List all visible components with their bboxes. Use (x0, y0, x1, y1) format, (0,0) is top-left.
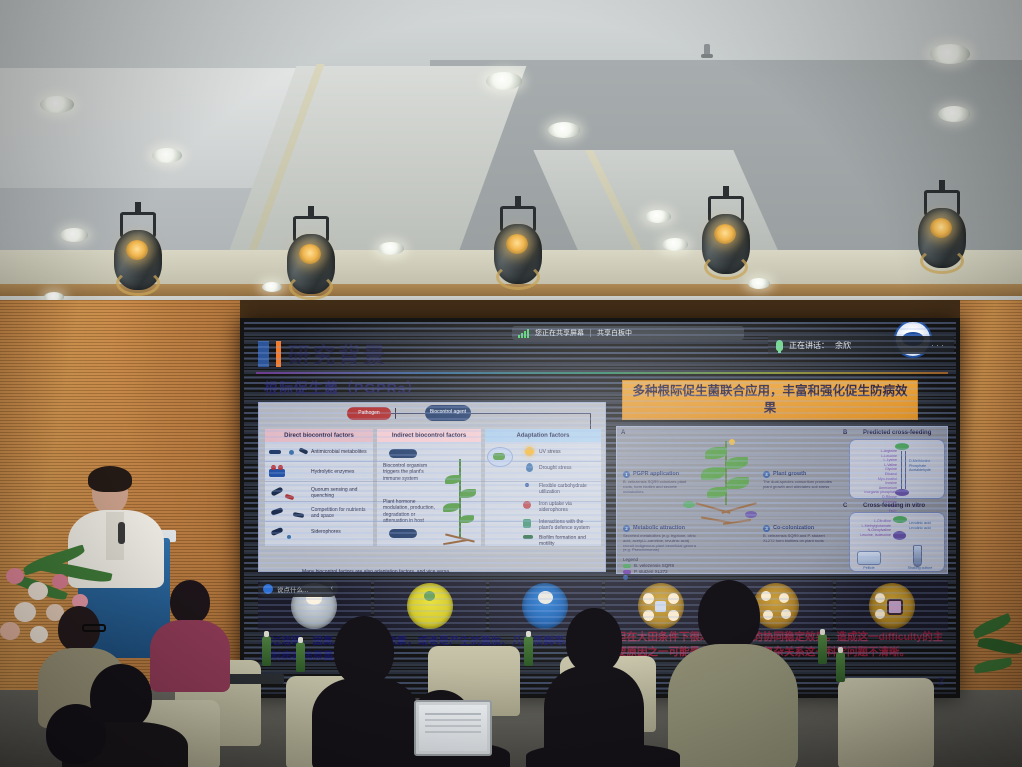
step-title: Plant growth (773, 471, 806, 477)
colony (875, 609, 885, 619)
figure-footnote: Many biocontrol factors are also adaptat… (302, 569, 450, 575)
indirect-item-label: Biocontrol organism triggers the plant's… (383, 463, 439, 482)
downlight (378, 242, 404, 255)
plant-leaf (705, 447, 727, 459)
colony (643, 593, 654, 604)
water-bottle (524, 636, 533, 666)
invitro-list-right: Levulinic acid Levulinic acid (909, 521, 943, 530)
signal-icon (518, 329, 529, 338)
audience-torso (526, 744, 680, 767)
carbohydrate-icon (525, 483, 529, 487)
plant-leaf (726, 457, 748, 469)
downlight (486, 72, 522, 90)
figure-biocontrol-factors: Pathogen Biocontrol agent Direct biocont… (258, 402, 606, 572)
divider (590, 329, 591, 337)
figure-cross-feeding: A 1 PGPR application B. velezensis SQR9 … (616, 426, 948, 574)
audience-torso (668, 644, 798, 767)
flower (28, 582, 48, 600)
eyeglasses (82, 624, 106, 632)
arrow-line (901, 451, 902, 489)
flower (6, 568, 24, 584)
direct-item-label: Hydrolytic enzymes (311, 469, 369, 475)
spotlight-lamp (126, 240, 148, 260)
speaker-name: 余欣 (835, 340, 851, 351)
spotlight-lamp (299, 244, 321, 264)
active-speaker-bar: 正在讲话： 余欣 ··· (768, 336, 954, 354)
step-number: 4 (763, 471, 770, 478)
root-zoom-glyph (493, 453, 505, 460)
title-divider (256, 372, 948, 374)
connector-line (590, 413, 591, 429)
bacterium-glyph (269, 450, 281, 454)
slide-title: 研究背景 (288, 338, 388, 370)
step-title: Metabolic attraction (633, 525, 685, 531)
plant-frond (977, 635, 1022, 657)
highlight-callout-box: 多种根际促生菌联合应用，丰富和强化促生防病效果 (622, 380, 918, 420)
adaptation-item-label: Flexible carbohydrate utilization (539, 483, 599, 496)
audience-head (698, 580, 760, 652)
flower (52, 574, 68, 589)
ellipsis-icon[interactable]: ··· (931, 340, 946, 350)
stage-spotlight (916, 190, 968, 282)
step-number: 2 (623, 525, 630, 532)
audience-head (334, 616, 394, 686)
spotlight-lamp (506, 234, 528, 254)
slide-title-row: 研究背景 (258, 338, 388, 370)
plant-frond (971, 613, 1013, 639)
audience-member (526, 690, 676, 767)
bacteria-xl272-glyph (895, 489, 909, 496)
conference-room-photo: 研究背景 根际促生菌（PGPRs） 多种根际促生菌联合应用，丰富和强化促生防病效… (0, 0, 1022, 767)
connector-line (471, 413, 591, 414)
sun-icon (525, 447, 534, 456)
connector-line (391, 413, 425, 414)
downlight (930, 44, 970, 64)
downlight (262, 282, 282, 292)
chair (838, 678, 934, 767)
avatar (263, 584, 273, 594)
ceiling (0, 0, 1022, 310)
column-header-adaptation: Adaptation factors (485, 429, 601, 442)
slide-subtitle: 根际促生菌（PGPRs） (264, 378, 421, 398)
plant-stem (459, 459, 461, 539)
panel-label-a: A (621, 430, 625, 436)
palm-frond (40, 559, 113, 586)
downlight (40, 96, 74, 113)
direct-item-label: Competition for nutrients and space (311, 507, 369, 520)
microphone-icon (776, 340, 783, 351)
colony (643, 610, 654, 621)
audience-head (46, 704, 106, 764)
share-secondary-label: 共享白板中 (597, 328, 632, 338)
hormone-glyph (389, 529, 417, 538)
indirect-item-label: Plant hormone modulation, production, de… (383, 499, 439, 524)
audience-head (566, 608, 622, 674)
step-description: B. velezensis SQR9 and P. stutzeri XL272… (763, 534, 837, 544)
connector-inhibit-bar (395, 408, 396, 419)
flower (0, 622, 20, 640)
bacteria-sqr9-glyph (683, 501, 695, 508)
legend-row: B. velezensis SQR9 (623, 563, 674, 568)
enzyme-glyph (269, 469, 285, 477)
adaptation-item-label: Interactions with the plant's defence sy… (539, 519, 599, 532)
node-pathogen: Pathogen (347, 407, 391, 420)
plant-leaf (707, 487, 727, 498)
stage-spotlight (112, 212, 164, 304)
step-title: PGPR application (633, 471, 679, 477)
legend-label: P. stutzeri XL272 (634, 569, 668, 574)
legend-label: B. velezensis SQR9 (634, 563, 674, 568)
laptop-screen-content (425, 713, 481, 715)
chat-placeholder: 说点什么... (277, 584, 308, 594)
downlight (662, 238, 688, 251)
figure-legend: Legend B. velezensis SQR9 P. stutzeri XL… (623, 557, 674, 580)
audience-member (668, 580, 794, 767)
direct-item-label: Quorum sensing and quenching (311, 487, 369, 500)
step-description: Secreted metabolites (e.g. tryptone, cit… (623, 534, 697, 553)
adaptation-item-label: Iron uptake via siderophores (539, 501, 599, 514)
adaptation-item-label: Drought stress (539, 465, 599, 471)
water-bottle (262, 636, 271, 666)
spotlight-lamp (930, 218, 952, 238)
notebook (228, 674, 284, 684)
audience-member (0, 700, 140, 767)
plant-frond (973, 657, 1012, 673)
spotlight-ring (116, 270, 160, 296)
step-number: 1 (623, 471, 630, 478)
downlight (152, 148, 182, 163)
title-accent-orange (276, 341, 281, 367)
stage-spotlight (492, 206, 544, 298)
spotlight-ring (704, 254, 748, 280)
bacteria-sqr9-glyph (893, 516, 907, 523)
column-header-indirect: Indirect biocontrol factors (377, 429, 481, 442)
flower (14, 602, 36, 622)
plant-leaf (727, 477, 749, 489)
petri-dish-photo (836, 580, 949, 632)
siderophore-glyph (287, 535, 291, 539)
stage-spotlight (700, 196, 752, 288)
culture-tube-glyph (913, 545, 922, 567)
audience-head (170, 580, 210, 624)
laptop-screen (419, 705, 487, 751)
adaptation-item-label: UV stress (539, 449, 599, 455)
droplet-icon (526, 463, 533, 472)
adaptation-item-label: Biofilm formation and motility (539, 535, 599, 548)
panel-title-c: Cross-feeding in vitro (863, 503, 925, 509)
stage-spotlight (285, 216, 337, 308)
spotlight-lamp (714, 224, 736, 244)
slide-page-number: 2 (938, 676, 944, 688)
flower-glyph (729, 439, 735, 445)
panel-label-c: C (843, 503, 847, 509)
inoculum-square (655, 601, 666, 612)
colony (538, 591, 553, 604)
legend-title: Legend (623, 557, 674, 562)
screen-share-banner[interactable]: 您正在共享屏幕 共享白板中 (512, 326, 744, 340)
bacteria-xl272-glyph (893, 531, 906, 540)
step-description: B. velezensis SQR9 colonizes plant roots… (623, 480, 691, 494)
spotlight-ring (496, 264, 540, 290)
colony (424, 591, 435, 601)
downlight (938, 106, 970, 122)
plant-root (723, 519, 751, 524)
metabolites-list-right: D-Methionine Phosphate Acetaldehyde (909, 459, 943, 473)
substrate-glyph (271, 465, 276, 470)
plant-leaf (701, 467, 725, 480)
legend-swatch-icon (623, 564, 631, 568)
downlight (60, 228, 88, 242)
direct-item-label: Siderophores (311, 529, 369, 535)
laptop[interactable] (414, 700, 492, 756)
biofilm-icon (523, 535, 533, 539)
title-accent-blue (258, 341, 269, 367)
bacteria-xl272-glyph (745, 511, 757, 518)
presenter-hair (88, 466, 132, 492)
sprinkler-head (704, 44, 710, 58)
legend-swatch-icon (623, 570, 631, 574)
panel-title-b: Predicted cross-feeding (863, 430, 931, 436)
microphone (118, 522, 125, 544)
inoculum-square (887, 599, 903, 615)
invitro-node-label: Pellicle (853, 566, 885, 571)
downlight (548, 122, 580, 138)
step-title: Co-colonization (773, 525, 814, 531)
invitro-node-label: Shaking culture (903, 566, 937, 571)
spotlight-ring (920, 248, 964, 274)
speaking-label: 正在讲话： (789, 340, 829, 351)
legend-row: P. stutzeri XL272 (623, 569, 674, 574)
petri-dish-glyph (857, 551, 881, 565)
share-banner-label: 您正在共享屏幕 (535, 328, 584, 338)
step-number: 3 (763, 525, 770, 532)
chat-input-widget[interactable]: 说点什么... ‹ (258, 580, 338, 597)
downlight (645, 210, 671, 223)
row-divider (265, 461, 601, 462)
iron-icon (523, 501, 531, 509)
water-bottle (818, 634, 827, 664)
panel-label-b: B (843, 430, 847, 436)
chevron-left-icon[interactable]: ‹ (331, 585, 333, 592)
step-description: The dual-species consortium promotes pla… (763, 480, 835, 490)
dish-plate (869, 583, 915, 629)
water-bottle (836, 652, 845, 682)
potted-plant (972, 612, 1022, 702)
molecule-glyph (289, 450, 294, 455)
node-biocontrol-agent: Biocontrol agent (425, 405, 471, 421)
bacteria-sqr9-glyph (895, 443, 909, 450)
arrow-line (905, 451, 906, 489)
shield-icon (523, 519, 531, 528)
water-bottle (296, 642, 305, 672)
colony (875, 593, 885, 603)
direct-item-label: Antimicrobial metabolites (311, 449, 369, 455)
invitro-list-left: L-Citrulline L-Methylglutamate N-Oleoylv… (851, 519, 891, 537)
ceiling-panel-left (0, 68, 300, 188)
column-header-direct: Direct biocontrol factors (265, 429, 373, 442)
substrate-glyph (278, 465, 283, 470)
biocontrol-organism-glyph (389, 449, 417, 458)
spotlight-ring (289, 274, 333, 300)
